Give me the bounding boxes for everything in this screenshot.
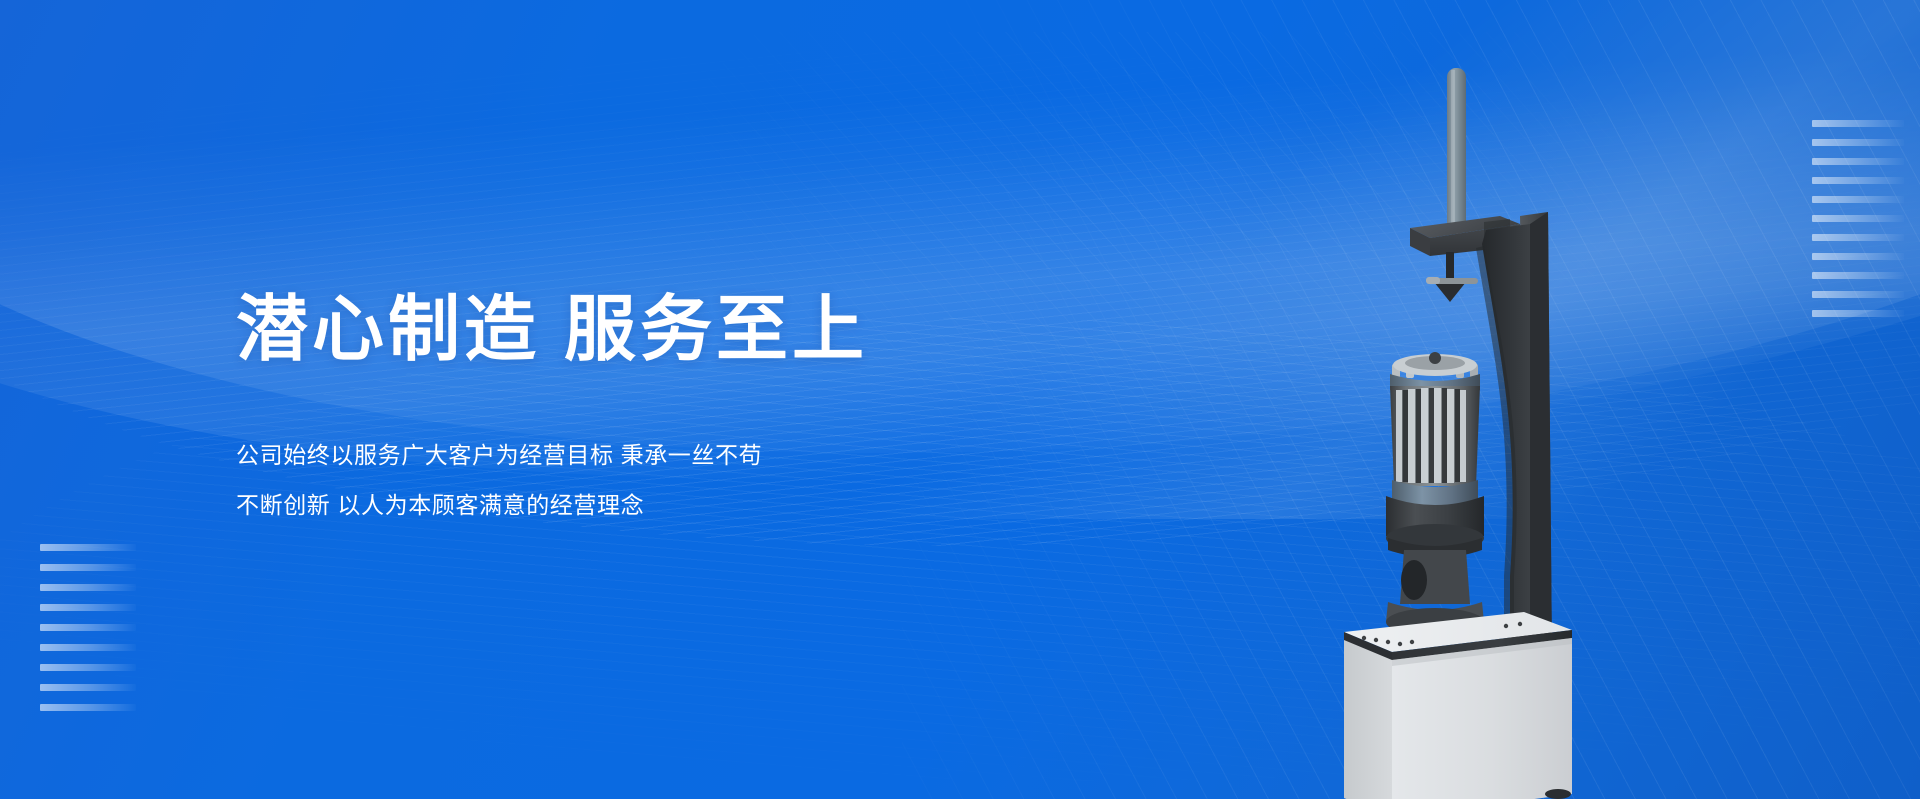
gradient-bar	[40, 584, 136, 591]
slotted-cylinder-head	[1390, 352, 1480, 507]
gradient-bar	[40, 624, 136, 631]
gradient-bar	[40, 664, 136, 671]
gradient-bar	[40, 704, 136, 711]
decorative-bars-left	[40, 544, 136, 711]
hero-headline: 潜心制造 服务至上	[236, 292, 1056, 368]
gradient-bar	[40, 644, 136, 651]
machine-svg	[1334, 56, 1634, 796]
drill-tip	[1426, 252, 1478, 302]
gradient-bar	[1812, 158, 1904, 165]
gradient-bar	[40, 544, 136, 551]
gradient-bar	[1812, 196, 1904, 203]
hero-subtitle-line-2: 不断创新 以人为本顾客满意的经营理念	[236, 494, 1056, 517]
gradient-bar	[1812, 253, 1904, 260]
vertical-steel-rod	[1447, 68, 1466, 234]
hero-subtitle-line-1: 公司始终以服务广大客户为经营目标 秉承一丝不苟	[236, 444, 1056, 467]
gradient-bar	[40, 604, 136, 611]
cabinet-pedestal	[1344, 612, 1572, 799]
gradient-bar	[40, 684, 136, 691]
gradient-bar	[1812, 139, 1904, 146]
base-hub	[1386, 496, 1484, 636]
gradient-bar	[1812, 177, 1904, 184]
hero-text-block: 潜心制造 服务至上 公司始终以服务广大客户为经营目标 秉承一丝不苟 不断创新 以…	[236, 292, 1056, 517]
product-machine-image	[1334, 56, 1634, 796]
hero-banner: 潜心制造 服务至上 公司始终以服务广大客户为经营目标 秉承一丝不苟 不断创新 以…	[0, 0, 1920, 799]
gradient-bar	[1812, 272, 1904, 279]
c-frame-column	[1476, 212, 1552, 660]
gradient-bar	[1812, 310, 1904, 317]
gradient-bar	[1812, 120, 1904, 127]
gradient-bar	[1812, 234, 1904, 241]
gradient-bar	[40, 564, 136, 571]
gradient-bar	[1812, 215, 1904, 222]
gradient-bar	[1812, 291, 1904, 298]
decorative-bars-right	[1812, 120, 1904, 317]
